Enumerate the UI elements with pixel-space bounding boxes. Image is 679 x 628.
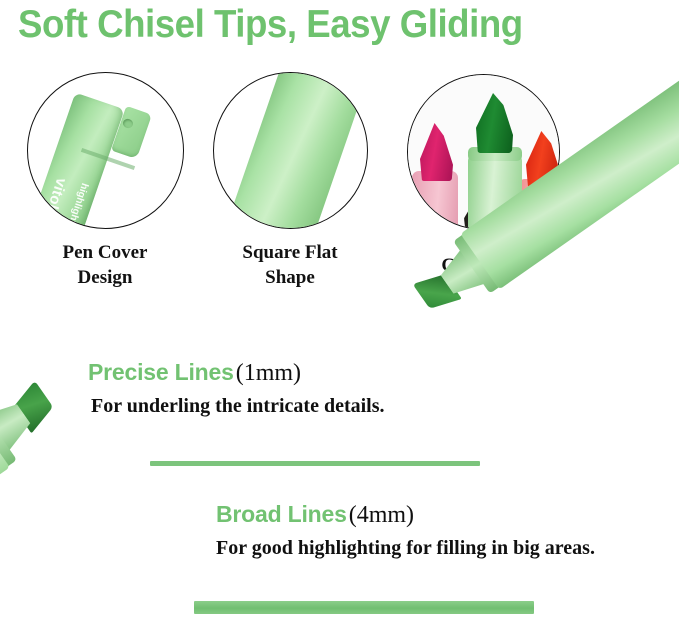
highlighter-pen-bottom-left [0, 384, 44, 615]
pink-chisel-nib [420, 123, 453, 181]
pen-cover-photo: vitoler highlighter [28, 73, 183, 228]
spec-heading: Precise Lines(1mm) [88, 358, 385, 390]
green-chisel-nib [476, 93, 513, 153]
feature-circle-pen-cover: vitoler highlighter [27, 72, 184, 229]
infographic-page: Soft Chisel Tips, Easy Gliding vitoler h… [0, 0, 679, 626]
page-title: Soft Chisel Tips, Easy Gliding [18, 2, 620, 48]
caption-line-2: Shape [205, 265, 375, 290]
spec-description: For underling the intricate details. [91, 393, 385, 419]
spec-precise-lines: Precise Lines(1mm) For underling the int… [88, 358, 385, 419]
caption-pen-cover: Pen Cover Design [19, 240, 191, 290]
caption-line-1: Pen Cover [19, 240, 191, 265]
caption-line-1: Square Flat [205, 240, 375, 265]
spec-heading: Broad Lines(4mm) [216, 500, 595, 532]
precise-line-stroke [150, 461, 480, 466]
caption-line-2: Design [19, 265, 191, 290]
spec-label: Broad Lines [216, 501, 347, 527]
spec-size: (4mm) [349, 502, 414, 528]
spec-description: For good highlighting for filling in big… [216, 535, 595, 561]
broad-line-stroke [194, 601, 534, 614]
caption-square-flat: Square Flat Shape [205, 240, 375, 290]
barrel-photo [214, 73, 367, 228]
feature-circle-square-flat [213, 72, 368, 229]
flat-barrel-shape [214, 72, 368, 229]
spec-broad-lines: Broad Lines(4mm) For good highlighting f… [216, 500, 595, 561]
spec-label: Precise Lines [88, 359, 234, 385]
spec-size: (1mm) [236, 360, 301, 386]
